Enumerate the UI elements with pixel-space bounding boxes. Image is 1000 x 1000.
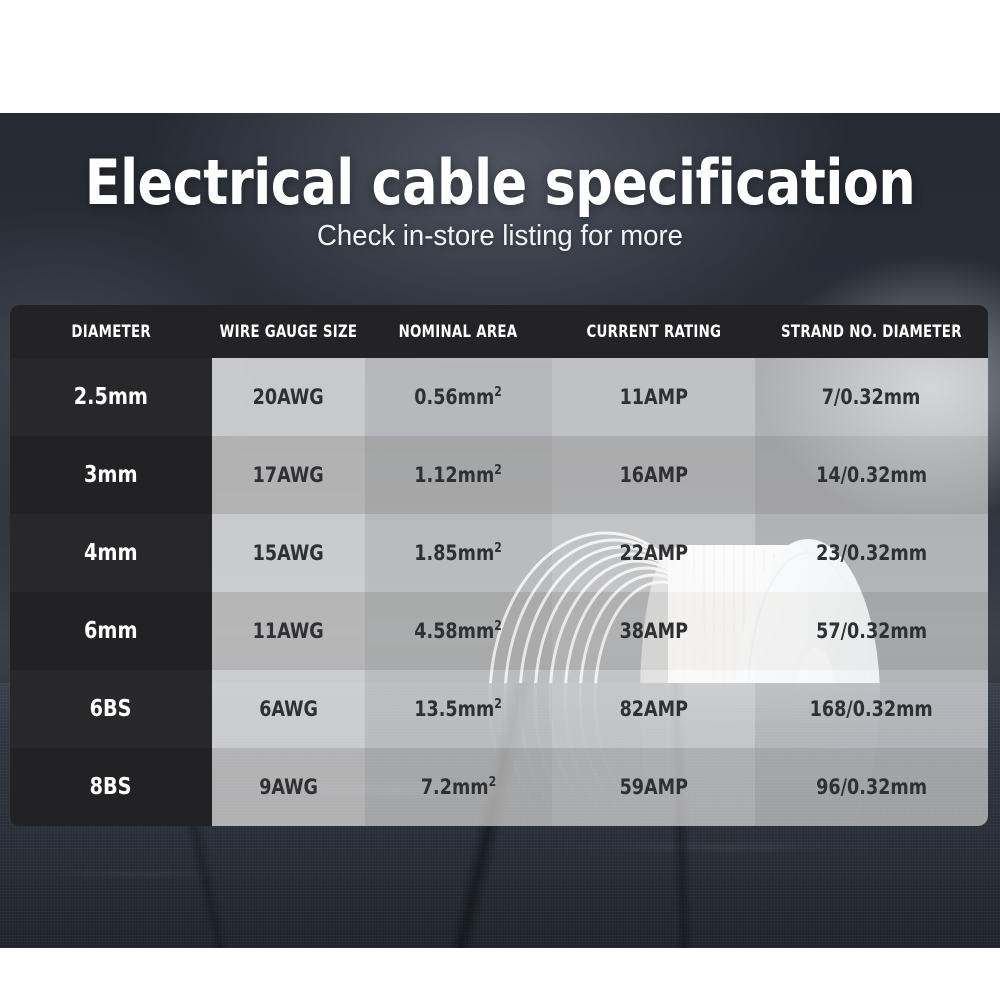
cell-diameter: 6mm — [10, 592, 212, 670]
cell-nominal-area: 4.58mm2 — [365, 592, 552, 670]
cell-nominal-area: 1.85mm2 — [365, 514, 552, 592]
cell-current-rating: 82AMP — [552, 670, 755, 748]
cell-nominal-area: 1.12mm2 — [365, 436, 552, 514]
cell-wire-gauge-size: 6AWG — [212, 670, 365, 748]
cell-strand-no-diameter: 23/0.32mm — [755, 514, 988, 592]
cell-strand-no-diameter: 96/0.32mm — [755, 748, 988, 826]
product-spec-banner: Electrical cable specification Check in-… — [0, 0, 1000, 1000]
column-header-current-rating: CURRENT RATING — [552, 305, 755, 358]
cell-current-rating: 59AMP — [552, 748, 755, 826]
cell-strand-no-diameter: 7/0.32mm — [755, 358, 988, 436]
cell-wire-gauge-size: 9AWG — [212, 748, 365, 826]
column-header-strand-no-diameter: STRAND NO. DIAMETER — [755, 305, 988, 358]
status-badge: 8BS — [10, 748, 212, 826]
cell-diameter: 3mm — [10, 436, 212, 514]
table-header-row: DIAMETER WIRE GAUGE SIZE NOMINAL AREA CU… — [10, 305, 988, 358]
banner-heading: Electrical cable specification Check in-… — [0, 150, 1000, 253]
cell-strand-no-diameter: 57/0.32mm — [755, 592, 988, 670]
cell-nominal-area: 0.56mm2 — [365, 358, 552, 436]
page-subtitle: Check in-store listing for more — [25, 220, 975, 253]
spec-table: DIAMETER WIRE GAUGE SIZE NOMINAL AREA CU… — [10, 305, 988, 826]
table-row[interactable]: 2.5mm 20AWG 0.56mm2 11AMP 7/0.32mm — [10, 358, 988, 436]
column-header-wire-gauge-size: WIRE GAUGE SIZE — [212, 305, 365, 358]
cell-current-rating: 22AMP — [552, 514, 755, 592]
cell-wire-gauge-size: 11AWG — [212, 592, 365, 670]
cell-wire-gauge-size: 20AWG — [212, 358, 365, 436]
cell-current-rating: 38AMP — [552, 592, 755, 670]
column-header-nominal-area: NOMINAL AREA — [365, 305, 552, 358]
cell-current-rating: 11AMP — [552, 358, 755, 436]
cell-diameter: 4mm — [10, 514, 212, 592]
column-header-diameter: DIAMETER — [10, 305, 212, 358]
cell-nominal-area: 7.2mm2 — [365, 748, 552, 826]
cell-strand-no-diameter: 168/0.32mm — [755, 670, 988, 748]
cell-diameter: 6BS — [10, 670, 212, 748]
cell-strand-no-diameter: 14/0.32mm — [755, 436, 988, 514]
cell-current-rating: 16AMP — [552, 436, 755, 514]
table-row[interactable]: 3mm 17AWG 1.12mm2 16AMP 14/0.32mm — [10, 436, 988, 514]
cell-nominal-area: 13.5mm2 — [365, 670, 552, 748]
page-title: Electrical cable specification — [30, 150, 970, 216]
table-row[interactable]: 4mm 15AWG 1.85mm2 22AMP 23/0.32mm — [10, 514, 988, 592]
table-row[interactable]: 6BS 6AWG 13.5mm2 82AMP 168/0.32mm — [10, 670, 988, 748]
table-row-highlighted[interactable]: 8BS 9AWG 7.2mm2 59AMP 96/0.32mm — [10, 748, 988, 826]
cell-wire-gauge-size: 15AWG — [212, 514, 365, 592]
cell-wire-gauge-size: 17AWG — [212, 436, 365, 514]
cell-diameter: 2.5mm — [10, 358, 212, 436]
table-row[interactable]: 6mm 11AWG 4.58mm2 38AMP 57/0.32mm — [10, 592, 988, 670]
